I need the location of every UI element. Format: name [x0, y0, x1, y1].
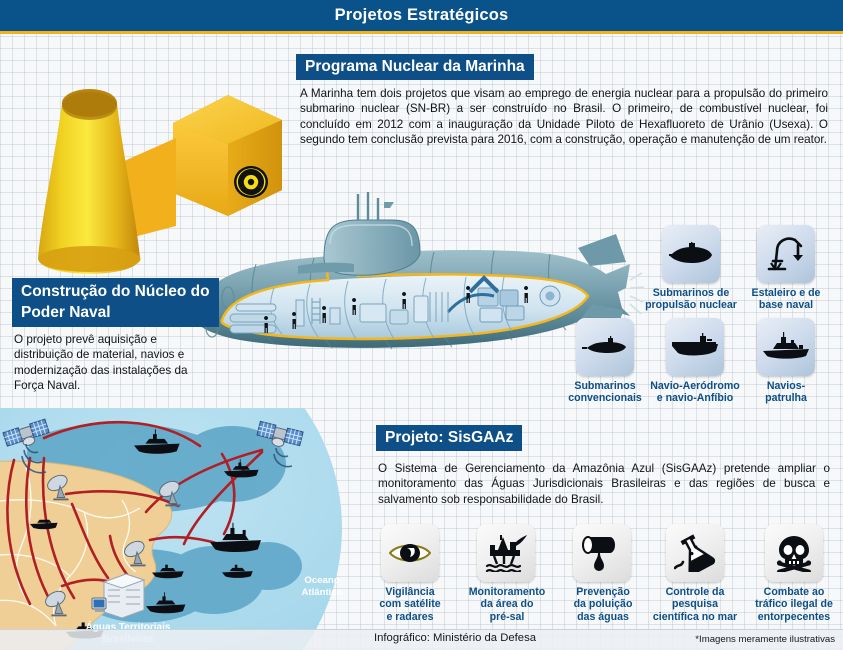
header-bar: Projetos Estratégicos: [0, 0, 843, 31]
infographic-page: Projetos Estratégicos: [0, 0, 843, 650]
aircraft-carrier-icon: [670, 333, 720, 361]
sisgaaz-map-illustration: Águas Territoriais Brasileiras Oceano At…: [0, 408, 372, 650]
tile-presalt-monitoring[interactable]: [477, 524, 535, 582]
map-label-ocean-line1: Oceano: [304, 575, 339, 586]
tile-conventional-submarine[interactable]: [576, 318, 634, 376]
nuclear-submarine-icon: [668, 242, 714, 266]
tile-caption-presalt: Monitoramento da área do pré-sal: [455, 586, 559, 623]
tile-patrol-ship[interactable]: [757, 318, 815, 376]
propeller-shape: [630, 273, 644, 314]
section-text-sisgaaz: O Sistema de Gerenciamento da Amazônia A…: [378, 461, 830, 507]
tile-pollution-prevention[interactable]: [573, 524, 631, 582]
periscope-masts: [358, 192, 378, 220]
tile-shipyard-crane[interactable]: [757, 225, 815, 283]
cooling-tower-shape: [38, 89, 141, 274]
tile-caption-patrol-ship: Navios- patrulha: [738, 380, 834, 405]
tile-caption-research: Controle da pesquisa científica no mar: [639, 586, 751, 623]
skull-crossbones-icon: [774, 534, 814, 572]
tile-caption-conventional-submarine: Submarinos convencionais: [557, 380, 653, 405]
section-text-nuclear: A Marinha tem dois projetos que visam ao…: [300, 86, 828, 148]
conventional-submarine-icon: [582, 336, 628, 358]
tile-caption-aircraft-carrier: Navio-Aeródromo e navio-Anfíbio: [643, 380, 747, 405]
tile-nuclear-submarine[interactable]: [662, 225, 720, 283]
section-label-nuclear: Programa Nuclear da Marinha: [296, 54, 534, 80]
oil-platform-icon: [484, 534, 528, 572]
section-text-naval: O projeto prevê aquisição e distribuição…: [14, 332, 212, 394]
section-label-naval: Construção do Núcleo do Poder Naval: [12, 278, 219, 327]
tile-aircraft-carrier[interactable]: [666, 318, 724, 376]
tile-surveillance[interactable]: [381, 524, 439, 582]
footer-source: Infográfico: Ministério da Defesa: [374, 632, 536, 644]
section-label-sisgaaz: Projeto: SisGAAz: [376, 425, 522, 451]
tile-drug-trafficking[interactable]: [765, 524, 823, 582]
tile-caption-pollution: Prevenção da poluição das águas: [555, 586, 651, 623]
footer-disclaimer: *Imagens meramente ilustrativas: [695, 634, 835, 645]
flask-icon: [674, 534, 716, 572]
tile-scientific-research[interactable]: [666, 524, 724, 582]
tile-caption-surveillance: Vigilância com satélite e radares: [362, 586, 458, 623]
map-label-ocean-line2: Atlântico: [301, 587, 342, 598]
tile-caption-shipyard: Estaleiro e de base naval: [738, 287, 834, 312]
patrol-ship-icon: [761, 332, 811, 362]
header-divider: [0, 31, 843, 34]
oil-drum-spill-icon: [582, 533, 622, 573]
torpedo-tubes: [230, 304, 276, 333]
shipyard-crane-icon: [765, 233, 807, 275]
page-title: Projetos Estratégicos: [0, 0, 843, 31]
eye-icon: [389, 540, 431, 566]
tile-caption-nuclear-submarine: Submarinos de propulsão nuclear: [643, 287, 739, 312]
tile-caption-drug-trafficking: Combate ao tráfico ilegal de entorpecent…: [738, 586, 843, 623]
